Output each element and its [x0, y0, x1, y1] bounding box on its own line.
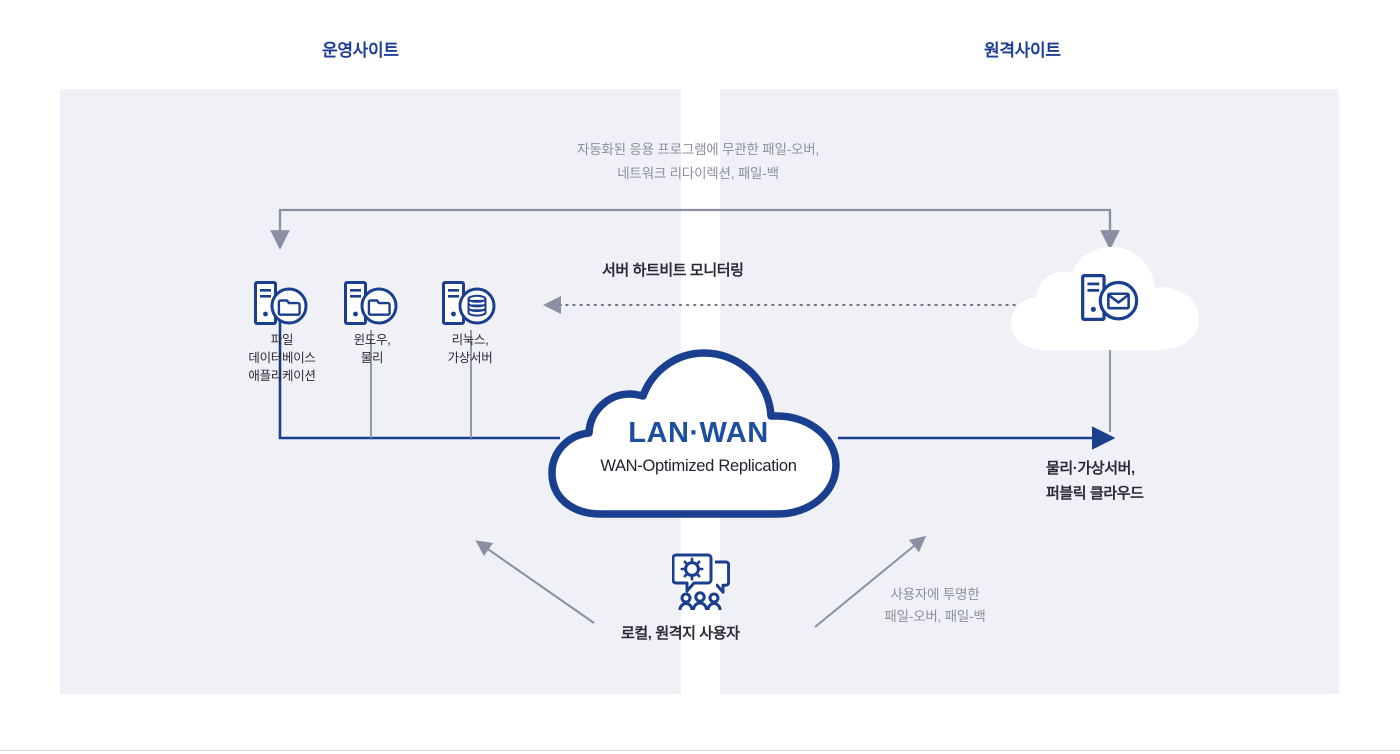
lan-wan-title: LAN·WAN: [546, 417, 851, 450]
user-transparent-line1: 사용자에 투명한: [855, 584, 1015, 606]
node-linux-server: 리눅스, 가상서버: [410, 275, 530, 367]
heartbeat-label: 서버 하트비트 모니터링: [602, 259, 744, 280]
user-transparent-caption: 사용자에 투명한 패일-오버, 패일-백: [855, 584, 1015, 628]
chat-gear-people-icon: [672, 549, 730, 611]
remote-servers-label: 물리·가상서버, 퍼블릭 클라우드: [1046, 456, 1144, 506]
bottom-divider: [0, 750, 1400, 751]
failover-caption-line2: 네트워크 리다이렉션, 패일-백: [498, 162, 898, 186]
remote-servers-label-line1: 물리·가상서버,: [1046, 456, 1144, 481]
server-database-icon: [410, 275, 530, 331]
failover-caption-line1: 자동화된 응용 프로그램에 무관한 패일-오버,: [498, 138, 898, 162]
lan-wan-subtitle: WAN-Optimized Replication: [546, 457, 851, 476]
remote-cloud: [1008, 246, 1213, 354]
primary-site-title: 운영사이트: [322, 36, 399, 61]
lan-wan-cloud: LAN·WAN WAN-Optimized Replication: [546, 338, 851, 523]
remote-servers-label-line2: 퍼블릭 클라우드: [1046, 481, 1144, 506]
server-mail-icon: [1080, 272, 1142, 329]
remote-site-title: 원격사이트: [984, 36, 1061, 61]
users-label: 로컬, 원격지 사용자: [621, 622, 740, 643]
node-linux-server-label: 리눅스, 가상서버: [410, 331, 530, 367]
failover-caption: 자동화된 응용 프로그램에 무관한 패일-오버, 네트워크 리다이렉션, 패일-…: [498, 138, 898, 186]
user-transparent-line2: 패일-오버, 패일-백: [855, 606, 1015, 628]
diagram-canvas: 운영사이트 원격사이트: [0, 0, 1400, 754]
